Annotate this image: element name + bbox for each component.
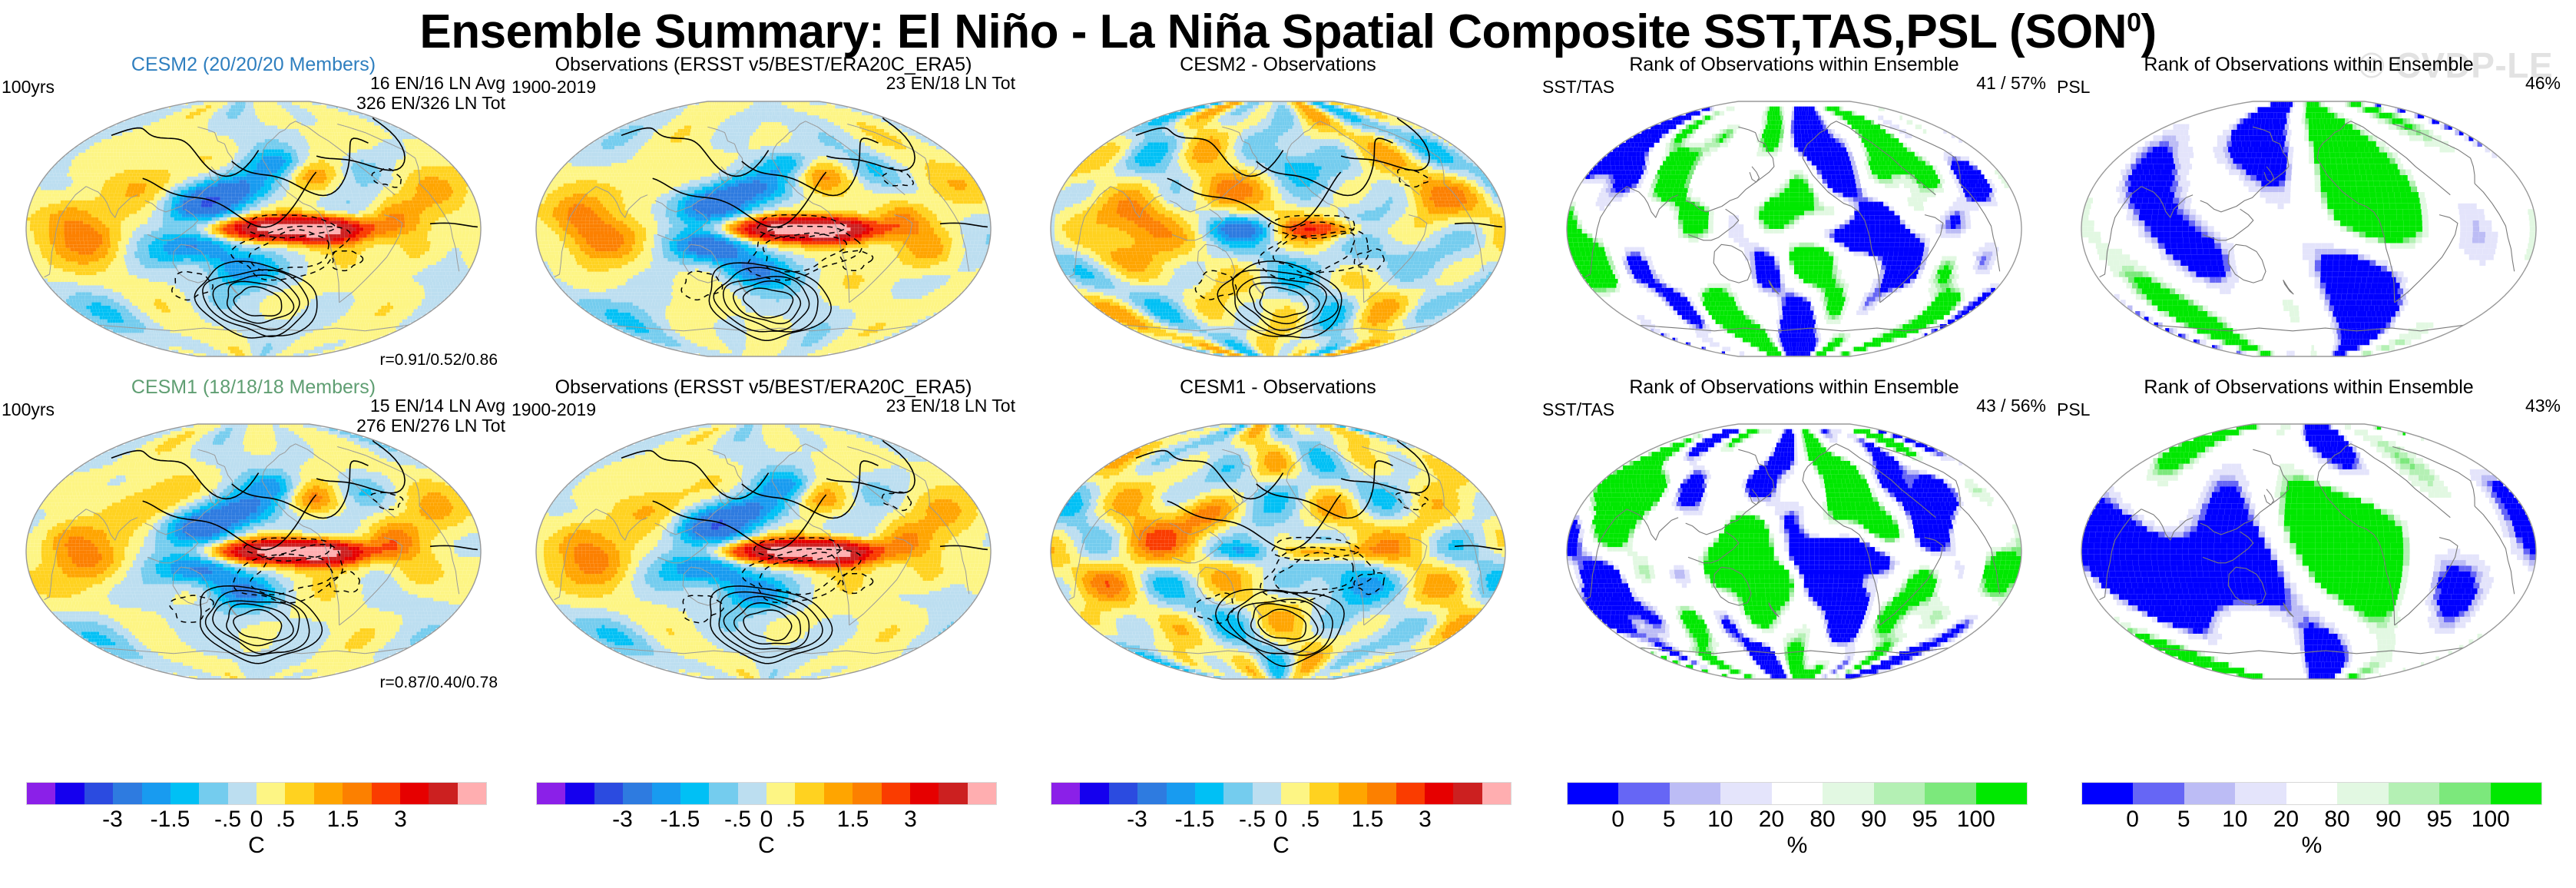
colorbar-tick-label: 90 xyxy=(1861,807,1886,833)
panel-top-right-line1: 15 EN/14 LN Avg xyxy=(356,396,505,416)
map-cesm1-model xyxy=(17,416,490,687)
colorbar-tick-label: 1.5 xyxy=(1352,807,1384,833)
map-obs-bottom xyxy=(527,416,1000,687)
colorbar-swatch xyxy=(2286,783,2337,804)
colorbar-tick-label: -.5 xyxy=(724,807,751,833)
title-main: Ensemble Summary: El Niño - La Niña Spat… xyxy=(419,5,2127,58)
colorbar-swatch xyxy=(1367,783,1396,804)
colorbar-swatch xyxy=(910,783,939,804)
colorbar-swatch xyxy=(968,783,996,804)
colorbar-swatches xyxy=(2081,782,2542,805)
panel-top-right-label: 43 / 56% xyxy=(1976,396,2046,416)
colorbar-ticks: -3-1.5-.50.51.53 xyxy=(26,807,487,833)
colorbar-swatch xyxy=(767,783,795,804)
panel-top-right-line1: 23 EN/18 LN Tot xyxy=(886,396,1015,416)
colorbar-swatch xyxy=(2184,783,2235,804)
colorbar-swatch xyxy=(171,783,199,804)
colorbar-swatch xyxy=(1874,783,1925,804)
colorbar-tick-label: -1.5 xyxy=(1175,807,1215,833)
panel-title: Rank of Observations within Ensemble xyxy=(2055,54,2562,76)
panel-top-right-label: 41 / 57% xyxy=(1976,74,2046,94)
colorbar-ticks: 051020809095100 xyxy=(2081,807,2542,833)
colorbar-swatch xyxy=(853,783,881,804)
colorbar-swatch xyxy=(1080,783,1108,804)
colorbar-swatch xyxy=(1772,783,1823,804)
panel-top-right-label: 46% xyxy=(2525,74,2561,94)
figure-root: Ensemble Summary: El Niño - La Niña Spat… xyxy=(0,0,2576,888)
panel-title: Rank of Observations within Ensemble xyxy=(1541,376,2048,399)
colorbar-tick-label: 5 xyxy=(2177,807,2190,833)
colorbar-tick-label: -3 xyxy=(102,807,123,833)
map-rank-psl-cesm2 xyxy=(2072,94,2545,364)
panel-top-right-line1: 43 / 56% xyxy=(1976,396,2046,416)
colorbar-swatch xyxy=(1425,783,1453,804)
panel-cesm1-model: CESM1 (18/18/18 Members)100yrs15 EN/14 L… xyxy=(0,376,507,695)
colorbar-unit: C xyxy=(536,833,997,859)
panel-top-right-line1: 23 EN/18 LN Tot xyxy=(886,74,1015,94)
colorbar-swatch xyxy=(343,783,371,804)
colorbar-tick-label: 0 xyxy=(250,807,263,833)
panel-obs-top: Observations (ERSST v5/BEST/ERA20C_ERA5)… xyxy=(510,54,1017,373)
colorbar-swatch xyxy=(537,783,565,804)
colorbar-unit: % xyxy=(2081,833,2542,859)
colorbar-swatch xyxy=(314,783,343,804)
colorbar-swatch xyxy=(565,783,594,804)
panel-rank-psl-cesm1: Rank of Observations within EnsemblePSL4… xyxy=(2055,376,2562,695)
panel-obs-bottom: Observations (ERSST v5/BEST/ERA20C_ERA5)… xyxy=(510,376,1017,695)
panel-rank-sst-tas-cesm2: Rank of Observations within EnsembleSST/… xyxy=(1541,54,2048,373)
colorbar-swatch xyxy=(1195,783,1223,804)
colorbar-swatch xyxy=(2235,783,2286,804)
colorbar-tick-label: 10 xyxy=(1707,807,1733,833)
colorbar-tick-label: .5 xyxy=(786,807,805,833)
colorbar-tick-label: 5 xyxy=(1663,807,1676,833)
colorbar-swatch xyxy=(400,783,429,804)
colorbar-ticks: -3-1.5-.50.51.53 xyxy=(536,807,997,833)
colorbar-swatches xyxy=(26,782,487,805)
colorbar-swatch xyxy=(429,783,457,804)
colorbar-tick-label: 100 xyxy=(1957,807,1995,833)
colorbar-tick-label: -3 xyxy=(1127,807,1147,833)
colorbar-swatch xyxy=(824,783,853,804)
map-rank-psl-cesm1 xyxy=(2072,416,2545,687)
colorbar-tick-label: 1.5 xyxy=(327,807,359,833)
colorbar-tick-label: 0 xyxy=(2126,807,2139,833)
colorbar-swatch xyxy=(1396,783,1425,804)
colorbar-swatch xyxy=(372,783,400,804)
colorbar-tick-label: .5 xyxy=(276,807,295,833)
colorbar-tick-label: -.5 xyxy=(214,807,241,833)
panel-top-right-line1: 46% xyxy=(2525,74,2561,94)
colorbar-swatch xyxy=(1137,783,1166,804)
colorbar-tick-label: 0 xyxy=(760,807,773,833)
map-rank-sst-tas-cesm1 xyxy=(1558,416,2031,687)
colorbar-swatches xyxy=(1567,782,2028,805)
colorbar-tick-label: 80 xyxy=(1809,807,1835,833)
colorbar-swatch xyxy=(113,783,141,804)
colorbar-swatch xyxy=(1453,783,1482,804)
colorbar-swatch xyxy=(1568,783,1618,804)
colorbar-swatch xyxy=(1482,783,1511,804)
colorbar-tick-label: -1.5 xyxy=(151,807,190,833)
colorbar-swatch xyxy=(709,783,737,804)
colorbar-swatch xyxy=(84,783,113,804)
panel-cesm1-minus-obs: CESM1 - Observations xyxy=(1025,376,1531,695)
colorbar-swatch xyxy=(2491,783,2541,804)
page-title: Ensemble Summary: El Niño - La Niña Spat… xyxy=(0,5,2576,59)
colorbar-tick-label: 3 xyxy=(394,807,407,833)
colorbar-swatch xyxy=(738,783,767,804)
colorbar-tick-label: 100 xyxy=(2472,807,2510,833)
colorbar-swatch xyxy=(1925,783,1975,804)
panel-cesm2-model: CESM2 (20/20/20 Members)100yrs16 EN/16 L… xyxy=(0,54,507,373)
colorbar-swatch xyxy=(1253,783,1281,804)
colorbar-swatches xyxy=(1051,782,1511,805)
colorbar-ticks: 051020809095100 xyxy=(1567,807,2028,833)
colorbar-tick-label: 3 xyxy=(1419,807,1432,833)
colorbar-tick-label: 95 xyxy=(2427,807,2452,833)
colorbar-swatch xyxy=(2082,783,2133,804)
colorbar-tick-label: 95 xyxy=(1912,807,1938,833)
colorbar-unit: % xyxy=(1567,833,2028,859)
colorbar-swatch xyxy=(1720,783,1771,804)
colorbar-tick-label: -3 xyxy=(612,807,633,833)
colorbar-swatch xyxy=(795,783,823,804)
colorbar-tick-label: 0 xyxy=(1275,807,1288,833)
title-superscript: 0 xyxy=(2127,8,2141,37)
colorbar-swatch xyxy=(594,783,623,804)
colorbar-cbar-rank-2: 051020809095100% xyxy=(2081,782,2542,866)
colorbar-tick-label: 0 xyxy=(1611,807,1624,833)
colorbar-cbar-sst-2: -3-1.5-.50.51.53C xyxy=(536,782,997,866)
colorbar-swatch xyxy=(458,783,486,804)
panel-top-right-line1: 41 / 57% xyxy=(1976,74,2046,94)
map-cesm1-minus-obs xyxy=(1041,416,1515,687)
panel-top-right-label: 23 EN/18 LN Tot xyxy=(886,74,1015,94)
panel-rank-psl-cesm2: Rank of Observations within EnsemblePSL4… xyxy=(2055,54,2562,373)
title-close: ) xyxy=(2141,5,2156,58)
colorbar-tick-label: -1.5 xyxy=(661,807,700,833)
colorbar-swatch xyxy=(27,783,55,804)
colorbar-swatch xyxy=(1051,783,1080,804)
map-rank-sst-tas-cesm2 xyxy=(1558,94,2031,364)
colorbar-swatch xyxy=(2389,783,2439,804)
colorbar-cbar-rank-1: 051020809095100% xyxy=(1567,782,2028,866)
colorbar-swatches xyxy=(536,782,997,805)
panel-top-right-label: 43% xyxy=(2525,396,2561,416)
colorbar-swatch xyxy=(285,783,313,804)
map-obs-top xyxy=(527,94,1000,364)
colorbar-tick-label: 90 xyxy=(2376,807,2401,833)
colorbar-swatch xyxy=(199,783,227,804)
pattern-correlation-label: r=0.91/0.52/0.86 xyxy=(379,351,498,369)
colorbar-tick-label: .5 xyxy=(1300,807,1319,833)
colorbar-swatch xyxy=(2439,783,2490,804)
colorbar-swatch xyxy=(882,783,910,804)
colorbar-tick-label: 20 xyxy=(2273,807,2299,833)
panel-rank-sst-tas-cesm1: Rank of Observations within EnsembleSST/… xyxy=(1541,376,2048,695)
colorbar-tick-label: 80 xyxy=(2324,807,2349,833)
map-cesm2-minus-obs xyxy=(1041,94,1515,364)
colorbar-swatch xyxy=(257,783,285,804)
panel-title: Rank of Observations within Ensemble xyxy=(1541,54,2048,76)
colorbar-swatch xyxy=(1670,783,1720,804)
panel-top-right-label: 23 EN/18 LN Tot xyxy=(886,396,1015,416)
colorbar-swatch xyxy=(228,783,257,804)
colorbar-swatch xyxy=(55,783,84,804)
colorbar-swatch xyxy=(2133,783,2184,804)
colorbar-cbar-sst-3: -3-1.5-.50.51.53C xyxy=(1051,782,1511,866)
colorbar-swatch xyxy=(1223,783,1252,804)
colorbar-swatch xyxy=(1167,783,1195,804)
colorbar-unit: C xyxy=(1051,833,1511,859)
colorbar-ticks: -3-1.5-.50.51.53 xyxy=(1051,807,1511,833)
colorbar-tick-label: 1.5 xyxy=(837,807,869,833)
colorbar-swatch xyxy=(1109,783,1137,804)
colorbar-tick-label: 20 xyxy=(1759,807,1784,833)
pattern-correlation-label: r=0.87/0.40/0.78 xyxy=(379,674,498,692)
colorbar-swatch xyxy=(1823,783,1873,804)
colorbar-swatch xyxy=(680,783,709,804)
colorbar-swatch xyxy=(652,783,680,804)
colorbar-unit: C xyxy=(26,833,487,859)
colorbar-swatch xyxy=(939,783,967,804)
panel-title: Rank of Observations within Ensemble xyxy=(2055,376,2562,399)
colorbar-tick-label: 10 xyxy=(2222,807,2247,833)
colorbar-swatch xyxy=(623,783,651,804)
colorbar-swatch xyxy=(1281,783,1310,804)
panel-title: CESM2 - Observations xyxy=(1025,54,1531,76)
panel-cesm2-minus-obs: CESM2 - Observations xyxy=(1025,54,1531,373)
panel-top-right-line1: 43% xyxy=(2525,396,2561,416)
colorbar-swatch xyxy=(1618,783,1669,804)
colorbar-tick-label: 3 xyxy=(904,807,917,833)
panel-top-right-line1: 16 EN/16 LN Avg xyxy=(356,74,505,94)
colorbar-cbar-sst-1: -3-1.5-.50.51.53C xyxy=(26,782,487,866)
colorbar-swatch xyxy=(1310,783,1338,804)
colorbar-swatch xyxy=(2337,783,2388,804)
colorbar-swatch xyxy=(142,783,171,804)
colorbar-tick-label: -.5 xyxy=(1239,807,1266,833)
colorbar-swatch xyxy=(1339,783,1367,804)
colorbar-swatch xyxy=(1976,783,2027,804)
panel-title: CESM1 - Observations xyxy=(1025,376,1531,399)
map-cesm2-model xyxy=(17,94,490,364)
